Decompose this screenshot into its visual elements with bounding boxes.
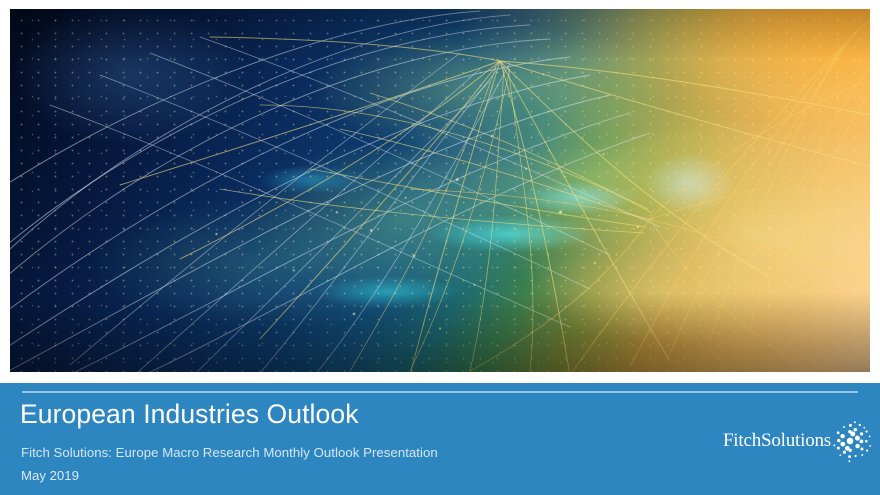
presentation-slide: European Industries Outlook Fitch Soluti… [0, 0, 880, 495]
fitch-solutions-logo: FitchSolutions [723, 419, 872, 463]
vignette-layer [10, 9, 870, 372]
title-bar: European Industries Outlook Fitch Soluti… [0, 383, 880, 495]
page-subtitle: Fitch Solutions: Europe Macro Research M… [21, 445, 438, 460]
starburst-dots-icon [828, 419, 872, 463]
divider-rule [22, 391, 858, 393]
hero-image [10, 9, 870, 372]
page-title: European Industries Outlook [20, 401, 359, 429]
logo-wordmark: FitchSolutions [723, 430, 831, 452]
page-date: May 2019 [21, 468, 79, 483]
